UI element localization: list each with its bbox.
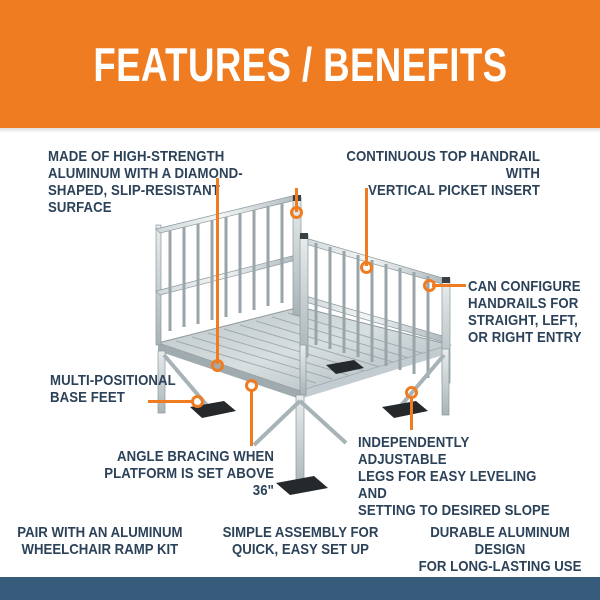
footer-item-simple-assembly: SIMPLE ASSEMBLY FOR QUICK, EASY SET UP <box>200 520 400 576</box>
callout-line: VERTICAL PICKET INSERT <box>322 182 540 199</box>
callout-line: ALUMINUM WITH A DIAMOND- <box>48 165 268 182</box>
callout-line: MULTI-POSITIONAL <box>50 372 182 389</box>
page-title: FEATURES / BENEFITS <box>93 41 507 88</box>
callout-line: CAN CONFIGURE <box>468 278 582 295</box>
connector-line-top-handrail-b <box>365 188 368 266</box>
footer-benefits-row: PAIR WITH AN ALUMINUM WHEELCHAIR RAMP KI… <box>0 520 600 576</box>
infographic-page: FEATURES / BENEFITS <box>0 0 600 600</box>
connector-dot-deck-surface <box>211 359 224 372</box>
callout-line: HANDRAILS FOR <box>468 295 582 312</box>
footer-item-durable-design: DURABLE ALUMINUM DESIGN FOR LONG-LASTING… <box>400 520 600 576</box>
callout-line: OR RIGHT ENTRY <box>468 329 582 346</box>
footer-line: SIMPLE ASSEMBLY FOR <box>222 524 378 541</box>
connector-line-adjustable-legs <box>410 396 413 430</box>
callout-line: LEGS FOR EASY LEVELING AND <box>358 468 552 502</box>
callout-line: SHAPED, SLIP-RESISTANT <box>48 182 268 199</box>
header-banner: FEATURES / BENEFITS <box>0 0 600 128</box>
connector-line-handrail-config <box>432 284 466 287</box>
connector-dot-handrail-config <box>423 279 436 292</box>
connector-dot-top-handrail-b <box>360 261 373 274</box>
footer-line: PAIR WITH AN ALUMINUM <box>17 524 182 541</box>
callout-line: MADE OF HIGH-STRENGTH <box>48 148 268 165</box>
callout-angle-bracing: ANGLE BRACING WHEN PLATFORM IS SET ABOVE… <box>87 448 274 499</box>
connector-dot-adjustable-legs <box>405 386 418 399</box>
footer-line: DURABLE ALUMINUM DESIGN <box>412 524 588 558</box>
callout-line: PLATFORM IS SET ABOVE 36" <box>87 465 274 499</box>
callout-handrail-config: CAN CONFIGURE HANDRAILS FOR STRAIGHT, LE… <box>468 278 582 346</box>
callout-line: SETTING TO DESIRED SLOPE <box>358 502 552 519</box>
callout-top-handrail: CONTINUOUS TOP HANDRAIL WITH VERTICAL PI… <box>322 148 540 199</box>
footer-line: QUICK, EASY SET UP <box>222 541 378 558</box>
callout-line: ANGLE BRACING WHEN <box>87 448 274 465</box>
connector-line-deck-surface <box>216 178 219 364</box>
connector-line-angle-bracing <box>250 390 253 446</box>
footer-item-ramp-kit: PAIR WITH AN ALUMINUM WHEELCHAIR RAMP KI… <box>0 520 200 576</box>
callout-deck-surface: MADE OF HIGH-STRENGTH ALUMINUM WITH A DI… <box>48 148 268 216</box>
callout-line: INDEPENDENTLY ADJUSTABLE <box>358 434 552 468</box>
callout-line: CONTINUOUS TOP HANDRAIL WITH <box>322 148 540 182</box>
connector-dot-top-handrail-a <box>290 206 303 219</box>
bottom-bar <box>0 577 600 600</box>
connector-dot-base-feet <box>191 395 204 408</box>
callout-line: SURFACE <box>48 199 268 216</box>
connector-dot-angle-bracing <box>245 379 258 392</box>
callout-adjustable-legs: INDEPENDENTLY ADJUSTABLE LEGS FOR EASY L… <box>358 434 552 519</box>
callout-line: STRAIGHT, LEFT, <box>468 312 582 329</box>
footer-line: WHEELCHAIR RAMP KIT <box>17 541 182 558</box>
header-shadow <box>0 128 600 133</box>
callout-line: BASE FEET <box>50 389 182 406</box>
connector-line-base-feet <box>148 400 194 403</box>
